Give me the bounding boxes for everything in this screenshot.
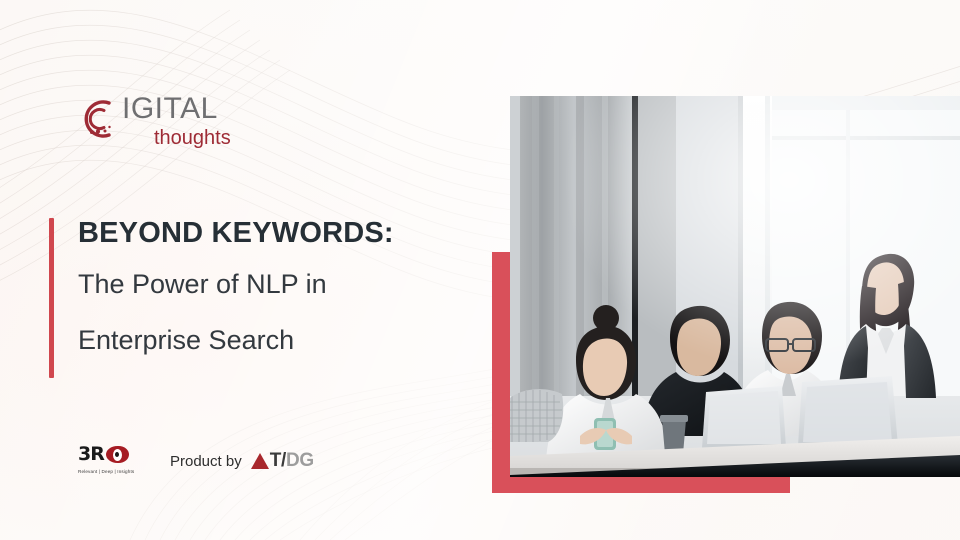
tdg-logo[interactable]: T/ DG [251,450,314,472]
triangle-icon [251,453,269,469]
title-block: BEYOND KEYWORDS: The Power of NLP in Ent… [78,214,498,364]
title-accent-bar [49,218,54,378]
logo-primary-text: IGITAL [122,92,231,126]
3rdi-wordmark: 3R [78,444,148,465]
digital-thoughts-logo[interactable]: IGITAL thoughts [78,92,258,154]
page-title: BEYOND KEYWORDS: [78,214,498,252]
3rdi-logo[interactable]: 3R Relevant | Deep | Insights [78,444,148,478]
product-by-label: Product by [170,453,242,470]
hero-photo [510,96,960,477]
logo-wordmark: IGITAL thoughts [122,92,231,149]
tdg-light-text: DG [286,450,314,472]
3rdi-brand-text: 3R [78,445,104,464]
eye-icon [106,446,129,463]
tdg-dark-text: T/ [270,450,286,472]
page-subtitle-line-1: The Power of NLP in [78,260,498,308]
footer-branding: 3R Relevant | Deep | Insights Product by… [78,443,314,479]
page-subtitle-line-2: Enterprise Search [78,316,498,364]
logo-secondary-text: thoughts [154,127,231,149]
3rdi-tagline: Relevant | Deep | Insights [78,469,148,474]
slide-canvas: IGITAL thoughts BEYOND KEYWORDS: The Pow… [0,0,960,540]
digital-thoughts-arc-icon [78,96,124,142]
